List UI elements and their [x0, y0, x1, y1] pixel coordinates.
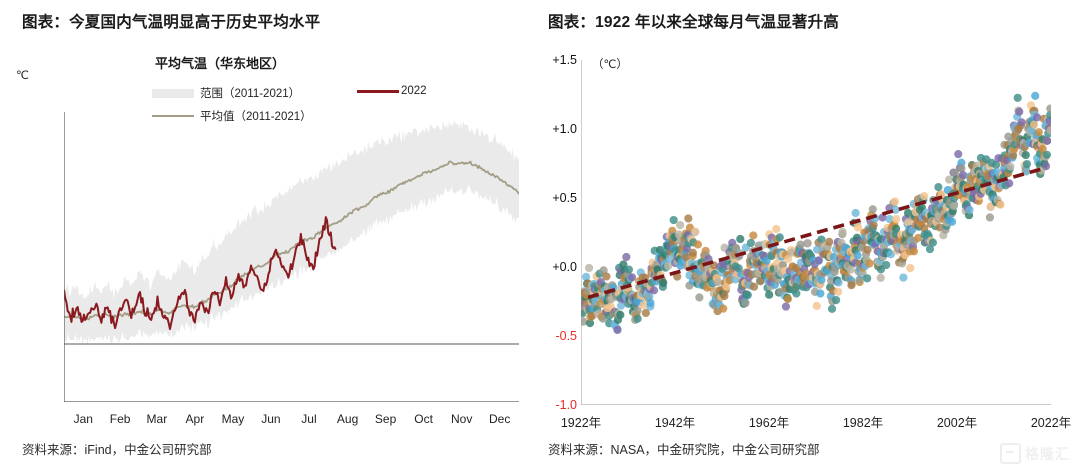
left-x-tick: Jul: [301, 412, 316, 426]
left-chart-plot: [64, 112, 519, 402]
legend-swatch-band-icon: [152, 89, 194, 98]
right-y-tick: +0.5: [537, 191, 577, 205]
right-y-tick: -1.0: [537, 398, 577, 412]
left-chart-svg: [64, 112, 519, 402]
right-chart-plot: [581, 60, 1051, 405]
right-source-note: 资料来源：NASA，中金研究院，中金公司研究部: [548, 439, 820, 458]
left-x-tick: Jan: [74, 412, 93, 426]
legend-item-2022: 2022: [357, 85, 427, 97]
figure-page: 图表：今夏国内气温明显高于历史平均水平 平均气温（华东地区） ℃ 范围（2011…: [0, 0, 1080, 472]
left-y-axis-unit: ℃: [16, 68, 29, 82]
left-panel: 图表：今夏国内气温明显高于历史平均水平 平均气温（华东地区） ℃ 范围（2011…: [0, 0, 540, 472]
legend-swatch-line-2022-icon: [357, 90, 399, 93]
left-x-tick: Feb: [110, 412, 131, 426]
right-y-tick: +1.5: [537, 53, 577, 67]
right-y-tick: +1.0: [537, 122, 577, 136]
right-chart-svg: [581, 60, 1051, 405]
legend-item-range: 范围（2011-2021）: [152, 85, 300, 101]
right-panel-heading: 图表：1922 年以来全球每月气温显著升高: [548, 10, 839, 32]
right-y-tick: +0.0: [537, 260, 577, 274]
watermark-text: 格隆汇: [1025, 444, 1070, 464]
left-x-tick: Nov: [451, 412, 472, 426]
legend-label-range: 范围（2011-2021）: [200, 85, 300, 101]
right-x-tick: 2022年: [1031, 412, 1071, 431]
left-panel-heading: 图表：今夏国内气温明显高于历史平均水平: [22, 10, 320, 32]
left-source-note: 资料来源：iFind，中金公司研究部: [22, 439, 212, 458]
right-x-tick: 1962年: [749, 412, 789, 431]
right-x-tick: 1982年: [843, 412, 883, 431]
left-x-tick: Oct: [414, 412, 433, 426]
watermark: 格隆汇: [1000, 443, 1070, 464]
left-chart-title: 平均气温（华东地区）: [0, 53, 440, 72]
right-x-tick: 1922年: [561, 412, 601, 431]
left-x-tick: Jun: [261, 412, 280, 426]
right-y-tick: -0.5: [537, 329, 577, 343]
watermark-logo-icon: [1000, 443, 1021, 464]
left-x-tick: Mar: [147, 412, 168, 426]
right-x-tick: 1942年: [655, 412, 695, 431]
left-x-tick: Dec: [489, 412, 510, 426]
left-x-tick: Apr: [186, 412, 205, 426]
left-x-tick: May: [222, 412, 245, 426]
left-x-tick: Sep: [375, 412, 396, 426]
legend-label-2022: 2022: [401, 85, 427, 97]
left-x-tick: Aug: [337, 412, 358, 426]
right-x-tick: 2002年: [937, 412, 977, 431]
